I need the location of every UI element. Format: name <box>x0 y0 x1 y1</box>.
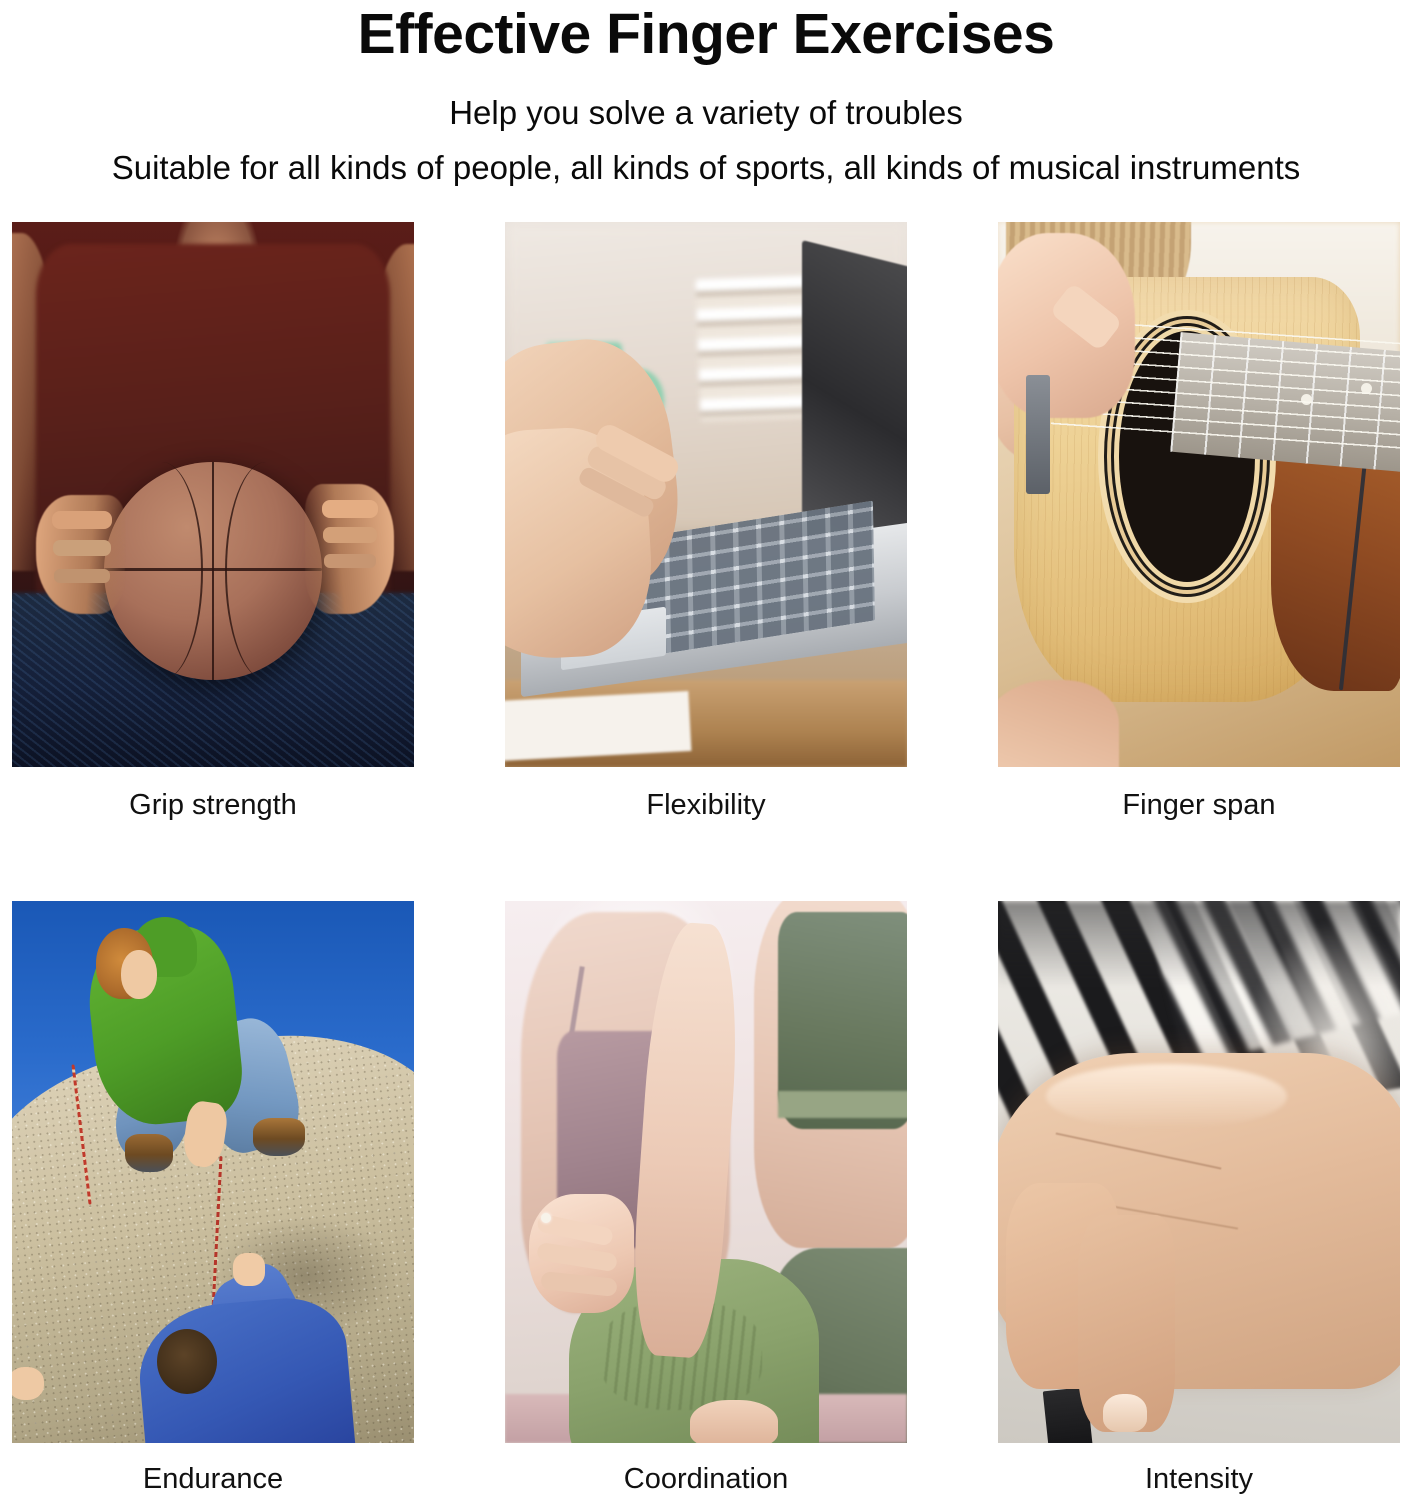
page-title: Effective Finger Exercises <box>0 0 1412 63</box>
piano-playing-photo <box>998 901 1400 1443</box>
page-subtitle-secondary: Suitable for all kinds of people, all ki… <box>0 129 1412 184</box>
photo-row-1: Grip strength Flexibility <box>12 222 1400 820</box>
photo-row-2: Endurance Coordination <box>12 901 1400 1494</box>
rock-climbing-photo <box>12 901 414 1443</box>
feature-cell-flexibility: Flexibility <box>505 222 907 820</box>
basketball-grip-photo <box>12 222 414 767</box>
feature-cell-intensity: Intensity <box>998 901 1400 1494</box>
feature-caption: Endurance <box>12 1443 414 1494</box>
feature-cell-coordination: Coordination <box>505 901 907 1494</box>
feature-caption: Flexibility <box>505 767 907 820</box>
feature-cell-grip-strength: Grip strength <box>12 222 414 820</box>
feature-caption: Grip strength <box>12 767 414 820</box>
acoustic-guitar-photo <box>998 222 1400 767</box>
feature-cell-endurance: Endurance <box>12 901 414 1494</box>
feature-cell-finger-span: Finger span <box>998 222 1400 820</box>
laptop-typing-photo <box>505 222 907 767</box>
feature-caption: Coordination <box>505 1443 907 1494</box>
feature-caption: Finger span <box>998 767 1400 820</box>
feature-caption: Intensity <box>998 1443 1400 1494</box>
page-subtitle-primary: Help you solve a variety of troubles <box>0 63 1412 129</box>
yoga-meditation-photo <box>505 901 907 1443</box>
feature-photo-grid: Grip strength Flexibility <box>12 222 1400 1494</box>
page-header: Effective Finger Exercises Help you solv… <box>0 0 1412 184</box>
